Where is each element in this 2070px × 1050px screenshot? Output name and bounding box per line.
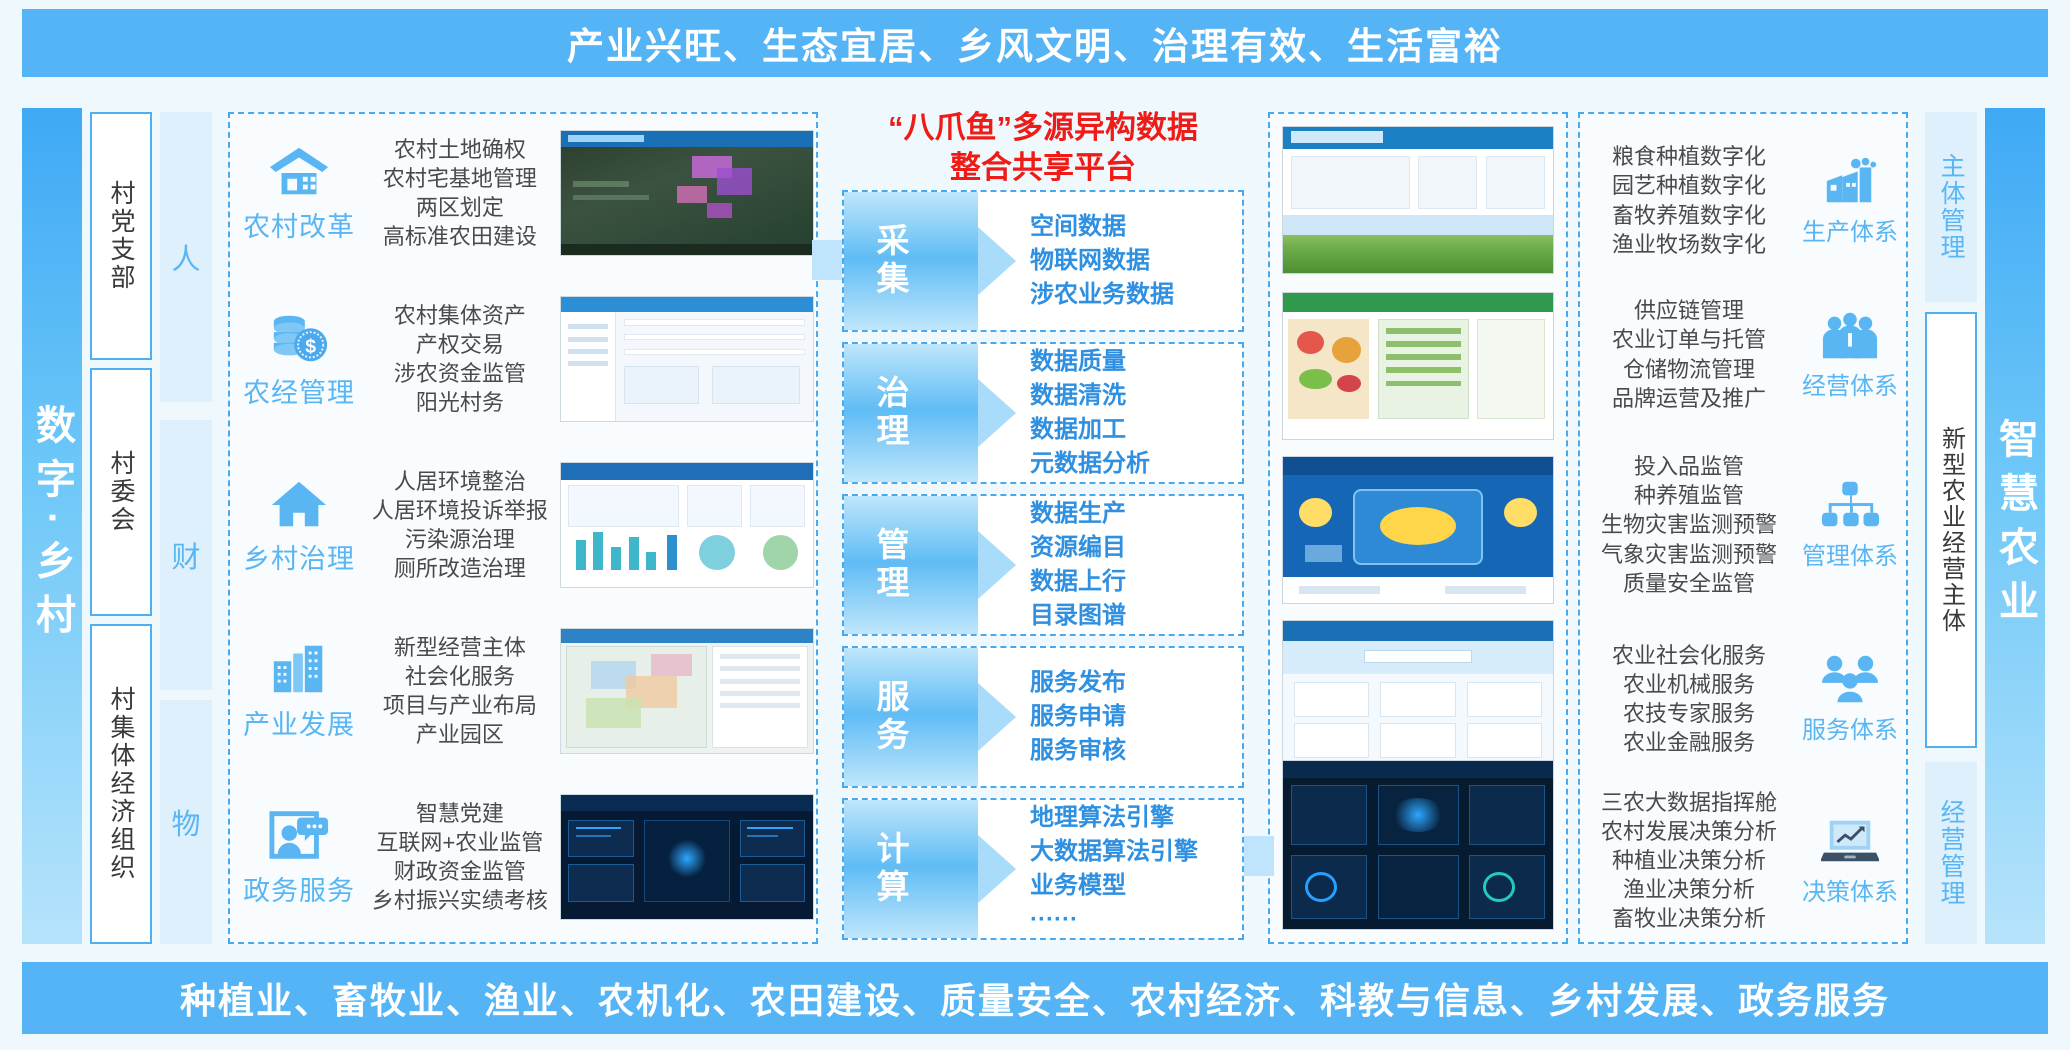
org-box-village-committee[interactable]: 村委会 bbox=[90, 368, 152, 616]
org-box-label: 村委会 bbox=[103, 450, 139, 534]
module-row-industry-development[interactable]: 产业发展 新型经营主体 社会化服务 项目与产业布局 产业园区 bbox=[232, 610, 814, 772]
right-label-text: 新型农业经营主体 bbox=[1934, 426, 1969, 634]
module-items: 农村土地确权 农村宅基地管理 两区划定 高标准农田建设 bbox=[366, 135, 553, 251]
right-label-operation-management: 经营管理 bbox=[1925, 762, 1977, 944]
system-icon-group: 生产体系 bbox=[1796, 155, 1904, 247]
module-label: 农经管理 bbox=[243, 371, 355, 410]
resource-label: 物 bbox=[171, 801, 200, 843]
green-farmland-portal-screenshot bbox=[1282, 126, 1554, 274]
module-icon-group: 乡村治理 bbox=[232, 475, 366, 576]
house-roof-icon bbox=[268, 143, 330, 199]
org-box-label: 村党支部 bbox=[103, 180, 139, 292]
resource-column-finance: 财 bbox=[160, 420, 212, 690]
system-icon-group: 管理体系 bbox=[1796, 479, 1904, 571]
stage-name: 治理 bbox=[866, 375, 914, 451]
bottom-banner: 种植业、畜牧业、渔业、农机化、农田建设、质量安全、农村经济、科教与信息、乡村发展… bbox=[22, 962, 2048, 1034]
dashboard-chart-screenshot bbox=[560, 462, 814, 588]
module-row-rural-economy[interactable]: $ 农经管理 农村集体资产 产权交易 涉农资金监管 阳光村务 bbox=[232, 278, 814, 440]
system-row-operation[interactable]: 供应链管理 农业订单与托管 仓储物流管理 品牌运营及推广 经营体系 bbox=[1582, 272, 1904, 437]
stage-chevron: 计算 bbox=[844, 800, 978, 938]
system-row-decision[interactable]: 三农大数据指挥舱 农村发展决策分析 种植业决策分析 渔业决策分析 畜牧业决策分析… bbox=[1582, 778, 1904, 943]
stage-items: 数据质量 数据清洗 数据加工 元数据分析 bbox=[1030, 345, 1150, 481]
three-users-icon bbox=[1821, 653, 1879, 705]
stage-collect[interactable]: 采集 空间数据 物联网数据 涉农业务数据 bbox=[842, 190, 1244, 332]
resource-column-people: 人 bbox=[160, 112, 212, 402]
dark-bigdata-dashboard-screenshot bbox=[1282, 760, 1554, 930]
module-label: 乡村治理 bbox=[243, 537, 355, 576]
left-rail-label: 数字·乡村 bbox=[23, 404, 81, 647]
stage-govern[interactable]: 治理 数据质量 数据清洗 数据加工 元数据分析 bbox=[842, 342, 1244, 484]
right-rail-label: 智慧农业 bbox=[1986, 418, 2044, 634]
system-label: 经营体系 bbox=[1802, 366, 1898, 401]
home-icon bbox=[268, 475, 330, 531]
diagram-root: 产业兴旺、生态宜居、乡风文明、治理有效、生活富裕 数字·乡村 村党支部 村委会 … bbox=[0, 0, 2070, 1050]
system-row-production[interactable]: 粮食种植数字化 园艺种植数字化 畜牧养殖数字化 渔业牧场数字化 生产体系 bbox=[1582, 118, 1904, 283]
stage-items: 空间数据 物联网数据 涉农业务数据 bbox=[1030, 210, 1174, 312]
system-row-service[interactable]: 农业社会化服务 农业机械服务 农技专家服务 农业金融服务 服务体系 bbox=[1582, 614, 1904, 784]
right-label-new-agri-subject[interactable]: 新型农业经营主体 bbox=[1925, 312, 1977, 748]
module-icon-group: 农村改革 bbox=[232, 143, 366, 244]
platform-title-line2: 整合共享平台 bbox=[838, 148, 1248, 188]
org-chart-icon bbox=[1821, 479, 1879, 531]
system-label: 管理体系 bbox=[1802, 536, 1898, 571]
stage-chevron: 治理 bbox=[844, 344, 978, 482]
satellite-map-screenshot bbox=[560, 130, 814, 256]
system-items: 投入品监管 种养殖监管 生物灾害监测预警 气象灾害监测预警 质量安全监管 bbox=[1582, 452, 1796, 597]
module-icon-group: 产业发展 bbox=[232, 641, 366, 742]
right-label-text: 经营管理 bbox=[1933, 799, 1969, 907]
food-safety-platform-screenshot bbox=[1282, 456, 1554, 604]
data-table-screenshot bbox=[560, 296, 814, 422]
right-rail: 智慧农业 bbox=[1985, 108, 2045, 944]
module-label: 产业发展 bbox=[243, 703, 355, 742]
top-banner: 产业兴旺、生态宜居、乡风文明、治理有效、生活富裕 bbox=[22, 9, 2048, 77]
system-items: 粮食种植数字化 园艺种植数字化 畜牧养殖数字化 渔业牧场数字化 bbox=[1582, 142, 1796, 258]
system-label: 决策体系 bbox=[1802, 872, 1898, 907]
system-items: 供应链管理 农业订单与托管 仓储物流管理 品牌运营及推广 bbox=[1582, 296, 1796, 412]
stage-items: 地理算法引擎 大数据算法引擎 业务模型 ······ bbox=[1030, 801, 1198, 937]
stage-chevron: 管理 bbox=[844, 496, 978, 634]
stage-service[interactable]: 服务 服务发布 服务申请 服务审核 bbox=[842, 646, 1244, 788]
stage-compute[interactable]: 计算 地理算法引擎 大数据算法引擎 业务模型 ······ bbox=[842, 798, 1244, 940]
right-label-subject-management: 主体管理 bbox=[1925, 112, 1977, 302]
resource-column-assets: 物 bbox=[160, 700, 212, 944]
gis-map-screenshot bbox=[560, 628, 814, 754]
module-icon-group: 政务服务 bbox=[232, 807, 366, 908]
stage-chevron: 采集 bbox=[844, 192, 978, 330]
system-items: 三农大数据指挥舱 农村发展决策分析 种植业决策分析 渔业决策分析 畜牧业决策分析 bbox=[1582, 788, 1796, 933]
left-rail: 数字·乡村 bbox=[22, 108, 82, 944]
system-label: 生产体系 bbox=[1802, 212, 1898, 247]
org-box-village-party-branch[interactable]: 村党支部 bbox=[90, 112, 152, 360]
platform-title: “八爪鱼”多源异构数据 整合共享平台 bbox=[838, 108, 1248, 189]
system-icon-group: 决策体系 bbox=[1796, 815, 1904, 907]
user-chat-icon bbox=[268, 807, 330, 863]
people-group-icon bbox=[1821, 309, 1879, 361]
module-icon-group: $ 农经管理 bbox=[232, 309, 366, 410]
connector-stub-right bbox=[1244, 836, 1274, 876]
system-items: 农业社会化服务 农业机械服务 农技专家服务 农业金融服务 bbox=[1582, 641, 1796, 757]
module-items: 人居环境整治 人居环境投诉举报 污染源治理 厕所改造治理 bbox=[366, 467, 553, 583]
org-box-label: 村集体经济组织 bbox=[103, 686, 139, 882]
module-items: 农村集体资产 产权交易 涉农资金监管 阳光村务 bbox=[366, 301, 553, 417]
platform-title-line1: “八爪鱼”多源异构数据 bbox=[838, 108, 1248, 148]
buildings-icon bbox=[268, 641, 330, 697]
laptop-chart-icon bbox=[1821, 815, 1879, 867]
service-portal-screenshot bbox=[1282, 620, 1554, 768]
module-row-government-service[interactable]: 政务服务 智慧党建 互联网+农业监管 财政资金监管 乡村振兴实绩考核 bbox=[232, 776, 814, 938]
coins-money-icon: $ bbox=[268, 309, 330, 365]
stage-chevron: 服务 bbox=[844, 648, 978, 786]
svg-text:$: $ bbox=[305, 335, 316, 357]
connector-stub-left bbox=[812, 240, 842, 280]
factory-icon bbox=[1821, 155, 1879, 207]
module-items: 新型经营主体 社会化服务 项目与产业布局 产业园区 bbox=[366, 633, 553, 749]
system-label: 服务体系 bbox=[1802, 710, 1898, 745]
stage-name: 服务 bbox=[866, 679, 914, 755]
system-icon-group: 经营体系 bbox=[1796, 309, 1904, 401]
system-row-management[interactable]: 投入品监管 种养殖监管 生物灾害监测预警 气象灾害监测预警 质量安全监管 管理体… bbox=[1582, 430, 1904, 620]
module-label: 政务服务 bbox=[243, 869, 355, 908]
org-box-collective-economy[interactable]: 村集体经济组织 bbox=[90, 624, 152, 944]
resource-label: 财 bbox=[171, 534, 200, 576]
resource-label: 人 bbox=[171, 236, 200, 278]
stage-name: 管理 bbox=[866, 527, 914, 603]
stage-items: 数据生产 资源编目 数据上行 目录图谱 bbox=[1030, 497, 1126, 633]
stage-name: 采集 bbox=[866, 223, 914, 299]
module-items: 智慧党建 互联网+农业监管 财政资金监管 乡村振兴实绩考核 bbox=[366, 799, 553, 915]
stage-manage[interactable]: 管理 数据生产 资源编目 数据上行 目录图谱 bbox=[842, 494, 1244, 636]
produce-ecommerce-screenshot bbox=[1282, 292, 1554, 440]
stage-items: 服务发布 服务申请 服务审核 bbox=[1030, 666, 1126, 768]
system-icon-group: 服务体系 bbox=[1796, 653, 1904, 745]
module-label: 农村改革 bbox=[243, 205, 355, 244]
dark-command-center-screenshot bbox=[560, 794, 814, 920]
module-row-rural-governance[interactable]: 乡村治理 人居环境整治 人居环境投诉举报 污染源治理 厕所改造治理 bbox=[232, 444, 814, 606]
stage-name: 计算 bbox=[866, 831, 914, 907]
module-row-rural-reform[interactable]: 农村改革 农村土地确权 农村宅基地管理 两区划定 高标准农田建设 bbox=[232, 112, 814, 274]
right-label-text: 主体管理 bbox=[1933, 153, 1969, 261]
